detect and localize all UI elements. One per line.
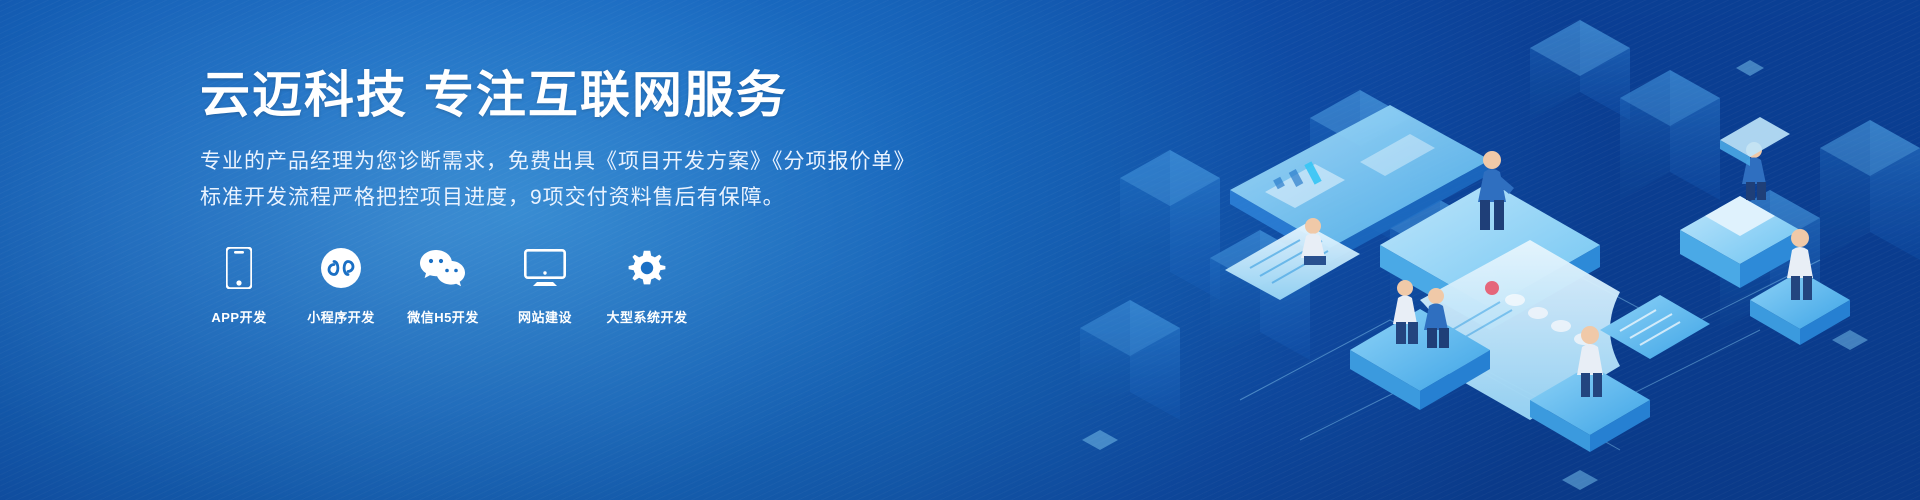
hero-banner: 云迈科技 专注互联网服务 专业的产品经理为您诊断需求，免费出具《项目开发方案》《… bbox=[0, 0, 1920, 500]
service-label: 大型系统开发 bbox=[607, 307, 688, 326]
service-item-website[interactable]: 网站建设 bbox=[506, 247, 584, 326]
mobile-phone-icon bbox=[226, 247, 252, 289]
service-list: APP开发 小程序开发 bbox=[200, 247, 920, 326]
service-label: 微信H5开发 bbox=[407, 307, 479, 326]
subtitle-line-2: 标准开发流程严格把控项目进度，9项交付资料售后有保障。 bbox=[200, 181, 920, 215]
service-item-miniprogram[interactable]: 小程序开发 bbox=[302, 247, 380, 326]
monitor-icon bbox=[524, 247, 566, 289]
subtitle-line-1: 专业的产品经理为您诊断需求，免费出具《项目开发方案》《分项报价单》 bbox=[200, 145, 920, 179]
gear-icon bbox=[626, 247, 668, 289]
service-label: APP开发 bbox=[211, 307, 266, 326]
service-label: 网站建设 bbox=[518, 307, 572, 326]
service-item-wechat[interactable]: 微信H5开发 bbox=[404, 247, 482, 326]
service-item-app[interactable]: APP开发 bbox=[200, 247, 278, 326]
mini-program-icon bbox=[320, 247, 362, 289]
service-label: 小程序开发 bbox=[307, 307, 375, 326]
page-title: 云迈科技 专注互联网服务 bbox=[200, 64, 920, 127]
hero-content: 云迈科技 专注互联网服务 专业的产品经理为您诊断需求，免费出具《项目开发方案》《… bbox=[200, 64, 920, 326]
wechat-icon bbox=[419, 247, 467, 289]
service-item-system[interactable]: 大型系统开发 bbox=[608, 247, 686, 326]
isometric-illustration bbox=[1060, 0, 1920, 500]
